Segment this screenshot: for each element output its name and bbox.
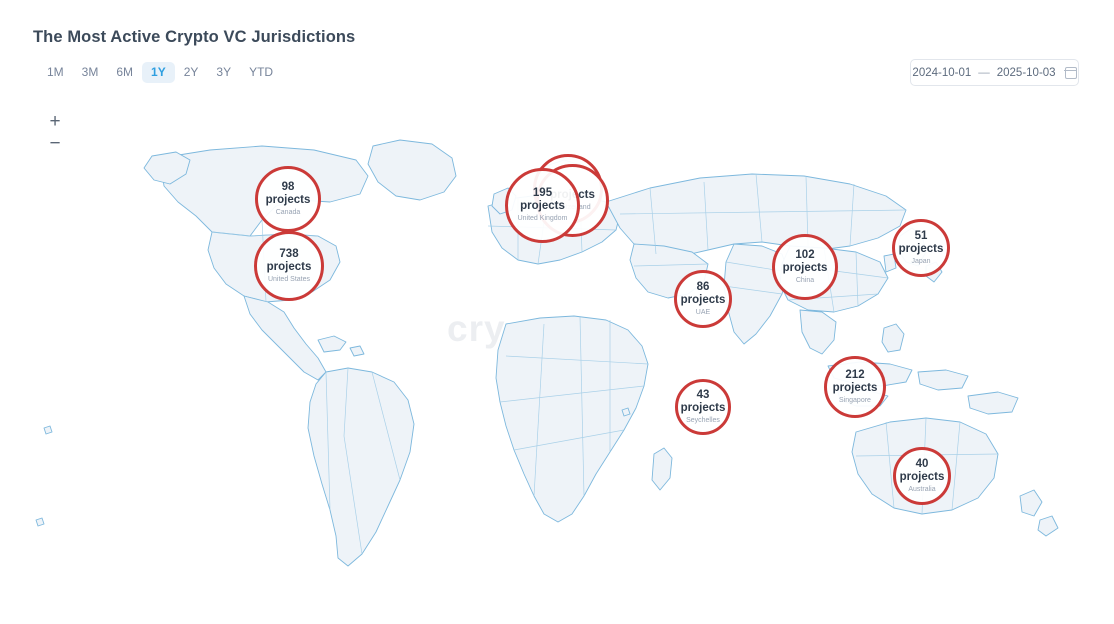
marker-count: 98 <box>282 181 295 194</box>
marker-country-label: Japan <box>911 257 930 267</box>
marker-count: 102 <box>795 249 814 262</box>
range-tab-3y[interactable]: 3Y <box>207 62 240 83</box>
marker-count: 212 <box>845 369 864 382</box>
map-marker-united-states[interactable]: 738projectsUnited States <box>254 231 324 301</box>
marker-unit-label: projects <box>266 194 311 207</box>
marker-count: 738 <box>279 248 298 261</box>
time-range-tabs[interactable]: 1M3M6M1Y2Y3YYTD <box>38 62 282 83</box>
marker-country-label: Canada <box>276 208 301 218</box>
map-marker-china[interactable]: 102projectsChina <box>772 234 838 300</box>
marker-country-label: United States <box>268 275 310 285</box>
marker-country-label: UAE <box>696 308 710 318</box>
map-marker-japan[interactable]: 51projectsJapan <box>892 219 950 277</box>
world-map-container[interactable]: cry 98projectsCanada738projectsUnited St… <box>0 96 1114 624</box>
map-marker-singapore[interactable]: 212projectsSingapore <box>824 356 886 418</box>
marker-country-label: Seychelles <box>686 416 720 426</box>
range-tab-1y[interactable]: 1Y <box>142 62 175 83</box>
map-marker-canada[interactable]: 98projectsCanada <box>255 166 321 232</box>
marker-unit-label: projects <box>267 261 312 274</box>
zoom-out-button[interactable]: − <box>44 132 66 154</box>
date-range-start: 2024-10-01 <box>912 67 971 79</box>
date-range-picker[interactable]: 2024-10-01 — 2025-10-03 <box>910 59 1079 86</box>
marker-unit-label: projects <box>681 294 726 307</box>
marker-unit-label: projects <box>899 243 944 256</box>
marker-unit-label: projects <box>520 200 565 213</box>
calendar-icon <box>1065 67 1077 79</box>
marker-country-label: Australia <box>908 485 935 495</box>
marker-count: 86 <box>697 281 710 294</box>
crypto-vc-jurisdictions-page: The Most Active Crypto VC Jurisdictions … <box>0 0 1114 624</box>
map-marker-seychelles[interactable]: 43projectsSeychelles <box>675 379 731 435</box>
map-marker-united-kingdom[interactable]: 195projectsUnited Kingdom <box>505 168 580 243</box>
range-tab-2y[interactable]: 2Y <box>175 62 208 83</box>
marker-count: 40 <box>916 458 929 471</box>
date-range-separator: — <box>978 67 990 79</box>
map-watermark: cry <box>447 308 506 350</box>
marker-unit-label: projects <box>783 262 828 275</box>
marker-unit-label: projects <box>833 382 878 395</box>
marker-count: 43 <box>697 389 710 402</box>
range-tab-6m[interactable]: 6M <box>107 62 142 83</box>
page-title: The Most Active Crypto VC Jurisdictions <box>33 28 355 47</box>
marker-unit-label: projects <box>900 471 945 484</box>
marker-count: 195 <box>533 187 552 200</box>
marker-country-label: United Kingdom <box>518 214 568 224</box>
range-tab-ytd[interactable]: YTD <box>240 62 282 83</box>
map-marker-australia[interactable]: 40projectsAustralia <box>893 447 951 505</box>
range-tab-1m[interactable]: 1M <box>38 62 73 83</box>
range-tab-3m[interactable]: 3M <box>73 62 108 83</box>
marker-unit-label: projects <box>681 402 726 415</box>
marker-country-label: Singapore <box>839 396 871 406</box>
zoom-in-button[interactable]: + <box>44 110 66 132</box>
date-range-end: 2025-10-03 <box>997 67 1056 79</box>
marker-count: 51 <box>915 230 928 243</box>
map-marker-uae[interactable]: 86projectsUAE <box>674 270 732 328</box>
marker-country-label: China <box>796 276 814 286</box>
map-zoom-controls[interactable]: + − <box>44 110 66 154</box>
